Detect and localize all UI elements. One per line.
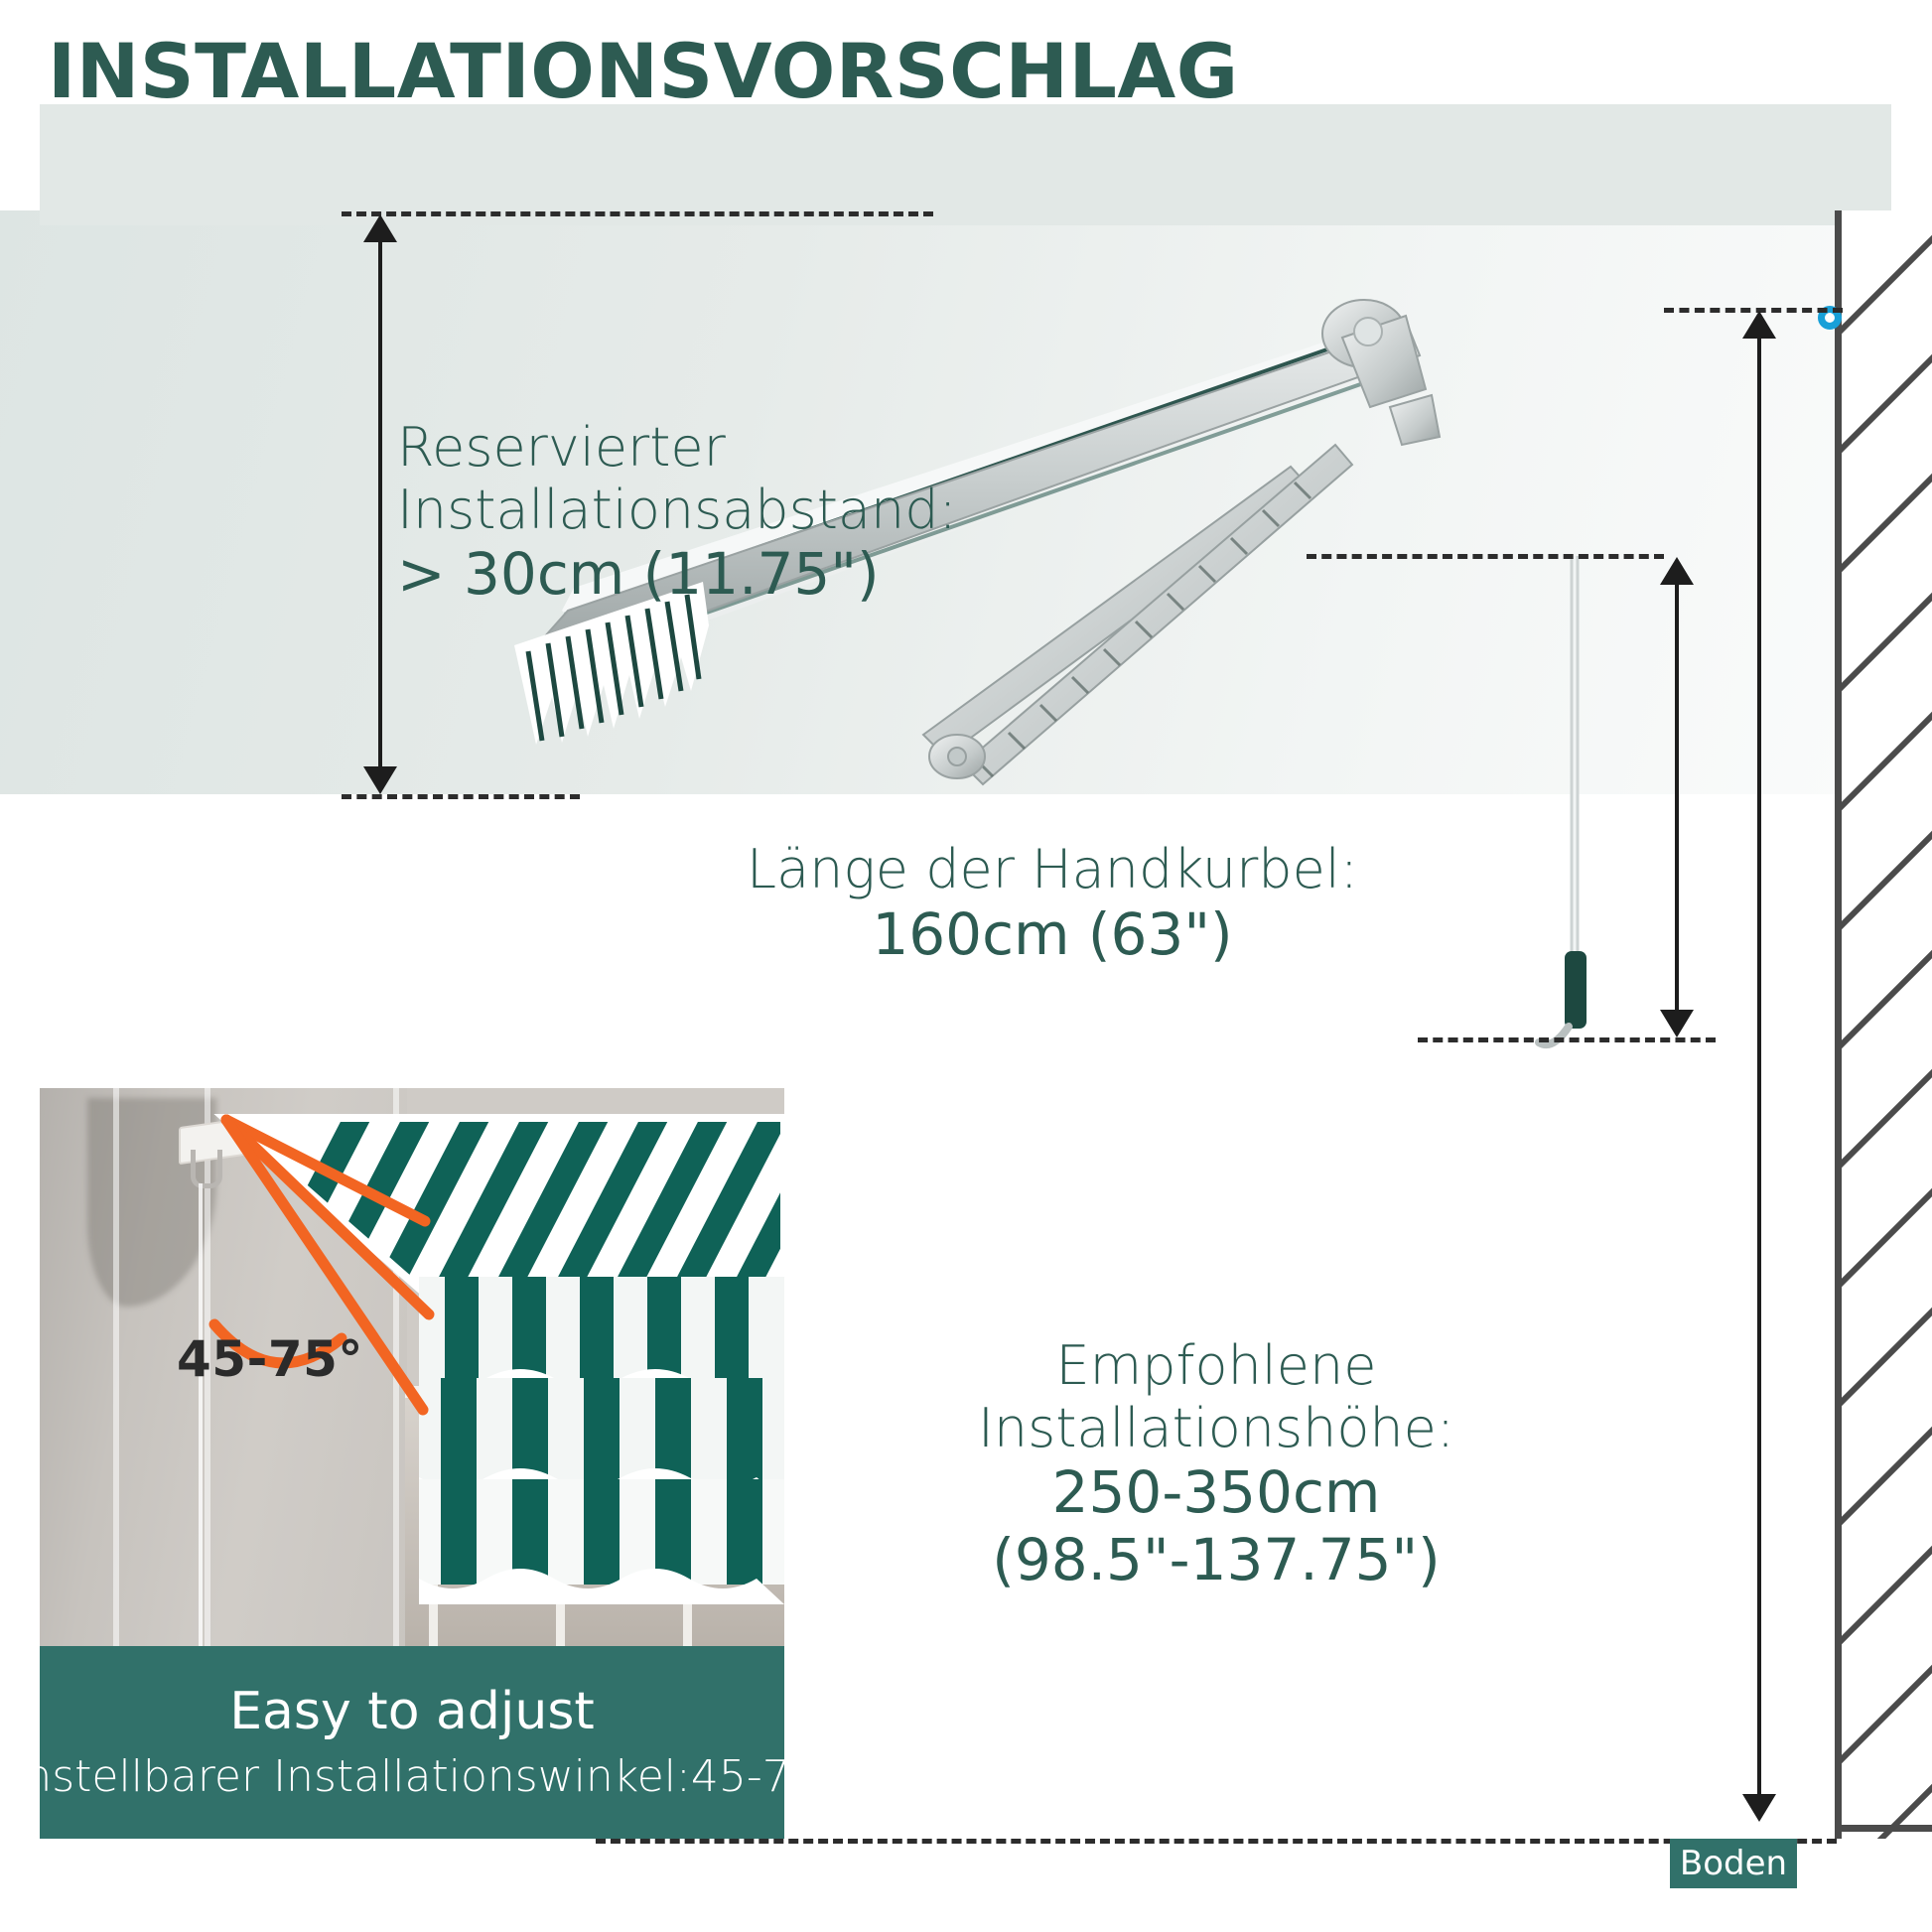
page-title: INSTALLATIONSVORSCHLAG (48, 34, 1239, 109)
reserved-distance-annotation: Reservierter Installationsabstand: > 30c… (397, 417, 957, 609)
crank-handle-grip (1565, 951, 1587, 1029)
ground-label-badge: Boden (1670, 1839, 1797, 1888)
adjust-angle-photo (40, 1088, 784, 1646)
photo-caption-bar: Easy to adjust Einstellbarer Installatio… (40, 1646, 784, 1839)
dim-crank-top-line (1307, 554, 1664, 559)
wall-section (1835, 210, 1932, 1839)
reserved-distance-line1: Reservierter (397, 417, 957, 480)
caption-primary: Easy to adjust (229, 1683, 595, 1742)
install-height-line2: Installationshöhe: (958, 1398, 1474, 1460)
dim-crank-bottom-line (1418, 1037, 1716, 1042)
hand-crank (1519, 556, 1638, 1052)
reserved-distance-line2: Installationsabstand: (397, 480, 957, 542)
dim-reserved-leader (378, 238, 382, 774)
install-height-value-in: (98.5"-137.75") (958, 1527, 1474, 1593)
dim-reserved-arrow-down (363, 766, 397, 794)
angle-indicator-icon (40, 1088, 784, 1646)
dim-reserved-top-line (342, 211, 933, 216)
crank-length-line1: Länge der Handkurbel: (735, 839, 1370, 901)
wall-hatching-icon (1842, 210, 1932, 1839)
dim-crank-leader (1675, 581, 1679, 1018)
reserved-distance-value: > 30cm (11.75") (397, 541, 957, 608)
dim-reserved-bottom-line (342, 794, 580, 799)
dim-height-leader (1757, 335, 1761, 1802)
crank-length-value: 160cm (63") (735, 901, 1370, 968)
installation-diagram: INSTALLATIONSVORSCHLAG (0, 0, 1932, 1932)
crank-length-annotation: Länge der Handkurbel: 160cm (63") (735, 839, 1370, 968)
install-height-line1: Empfohlene (958, 1335, 1474, 1398)
title-band (40, 104, 1891, 225)
awning-elbow-joint (929, 735, 985, 778)
install-height-value-cm: 250-350cm (958, 1459, 1474, 1526)
ground-label-text: Boden (1680, 1844, 1787, 1883)
wall-base-line (1835, 1825, 1932, 1832)
dim-crank-arrow-down (1660, 1010, 1694, 1037)
dim-height-arrow-down (1742, 1794, 1776, 1822)
dim-height-bottom-line (596, 1839, 1837, 1844)
angle-range-label: 45-75° (177, 1330, 363, 1388)
install-height-annotation: Empfohlene Installationshöhe: 250-350cm … (958, 1335, 1474, 1593)
caption-secondary: Einstellbarer Installationswinkel:45-75° (0, 1752, 840, 1803)
